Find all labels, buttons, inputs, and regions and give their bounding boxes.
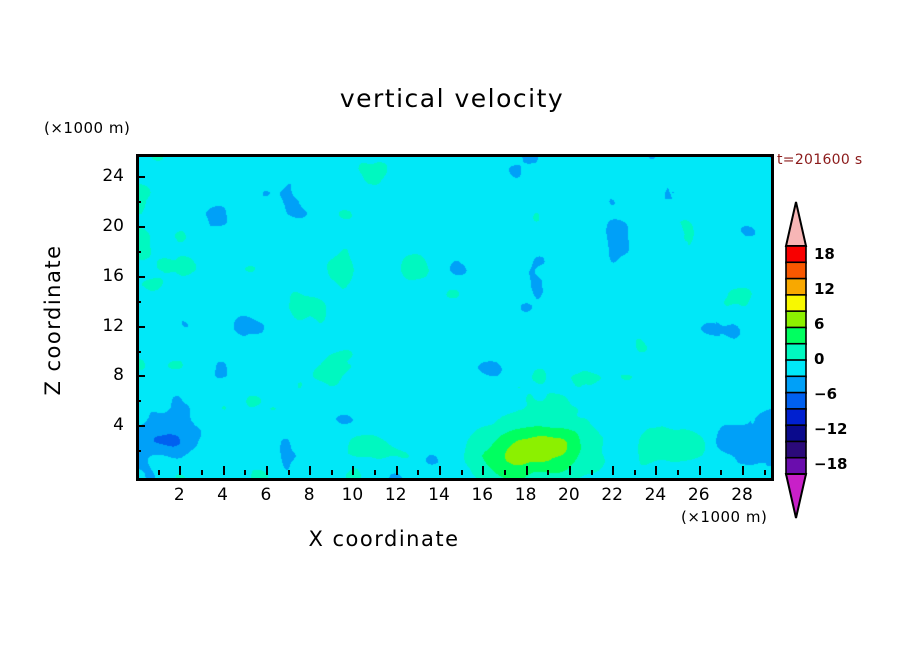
x-axis-unit-label: (×1000 m) xyxy=(681,508,767,526)
x-axis-major-tick xyxy=(655,466,657,475)
x-axis-minor-tick xyxy=(504,470,506,475)
colorbar-tick-label: −6 xyxy=(814,385,837,403)
y-axis-tick-label: 4 xyxy=(84,415,124,435)
y-axis-tick-label: 20 xyxy=(84,216,124,236)
x-axis-tick-label: 24 xyxy=(635,485,675,505)
x-axis-tick-label: 6 xyxy=(246,485,286,505)
colorbar-tick-label: 6 xyxy=(814,315,824,333)
x-axis-minor-tick xyxy=(374,470,376,475)
x-axis-minor-tick xyxy=(244,470,246,475)
y-axis-major-tick xyxy=(136,425,145,427)
x-axis-tick-label: 4 xyxy=(203,485,243,505)
x-axis-minor-tick xyxy=(417,470,419,475)
x-axis-major-tick xyxy=(266,466,268,475)
x-axis-major-tick xyxy=(482,466,484,475)
y-axis-major-tick xyxy=(136,176,145,178)
x-axis-minor-tick xyxy=(158,470,160,475)
y-axis-title: Z coordinate xyxy=(41,220,65,420)
y-axis-major-tick xyxy=(136,226,145,228)
x-axis-major-tick xyxy=(612,466,614,475)
colorbar-tick-label: 12 xyxy=(814,280,835,298)
colorbar-tick-label: −18 xyxy=(814,455,847,473)
x-axis-major-tick xyxy=(569,466,571,475)
colorbar-tick-label: −12 xyxy=(814,420,847,438)
x-axis-major-tick xyxy=(223,466,225,475)
y-axis-tick-label: 8 xyxy=(84,365,124,385)
x-axis-major-tick xyxy=(179,466,181,475)
x-axis-major-tick xyxy=(352,466,354,475)
x-axis-tick-label: 14 xyxy=(419,485,459,505)
x-axis-minor-tick xyxy=(677,470,679,475)
x-axis-tick-label: 8 xyxy=(289,485,329,505)
y-axis-major-tick xyxy=(136,326,145,328)
x-axis-tick-label: 10 xyxy=(332,485,372,505)
y-axis-unit-label: (×1000 m) xyxy=(44,119,130,137)
colorbar-tick-label: 0 xyxy=(814,350,824,368)
x-axis-major-tick xyxy=(309,466,311,475)
y-axis-minor-tick xyxy=(136,450,141,452)
x-axis-tick-label: 28 xyxy=(722,485,762,505)
y-axis-minor-tick xyxy=(136,301,141,303)
x-axis-major-tick xyxy=(396,466,398,475)
x-axis-minor-tick xyxy=(331,470,333,475)
contour-plot-area xyxy=(136,154,774,481)
x-axis-minor-tick xyxy=(547,470,549,475)
y-axis-minor-tick xyxy=(136,251,141,253)
x-axis-minor-tick xyxy=(764,470,766,475)
y-axis-minor-tick xyxy=(136,201,141,203)
x-axis-major-tick xyxy=(526,466,528,475)
x-axis-major-tick xyxy=(699,466,701,475)
x-axis-minor-tick xyxy=(288,470,290,475)
y-axis-tick-label: 24 xyxy=(84,166,124,186)
x-axis-major-tick xyxy=(742,466,744,475)
x-axis-minor-tick xyxy=(201,470,203,475)
page-title: vertical velocity xyxy=(0,84,904,113)
y-axis-minor-tick xyxy=(136,351,141,353)
x-axis-minor-tick xyxy=(634,470,636,475)
x-axis-tick-label: 2 xyxy=(159,485,199,505)
x-axis-minor-tick xyxy=(461,470,463,475)
y-axis-major-tick xyxy=(136,375,145,377)
y-axis-major-tick xyxy=(136,276,145,278)
x-axis-minor-tick xyxy=(720,470,722,475)
y-axis-tick-label: 16 xyxy=(84,266,124,286)
colorbar-tick-label: 18 xyxy=(814,245,835,263)
y-axis-minor-tick xyxy=(136,400,141,402)
x-axis-tick-label: 26 xyxy=(679,485,719,505)
contour-field-canvas xyxy=(139,157,771,478)
x-axis-tick-label: 20 xyxy=(549,485,589,505)
x-axis-tick-label: 12 xyxy=(376,485,416,505)
x-axis-major-tick xyxy=(439,466,441,475)
x-axis-minor-tick xyxy=(591,470,593,475)
colorbar-label-layer: 181260−6−12−18 xyxy=(782,200,902,520)
timestamp-annotation: t=201600 s xyxy=(777,152,862,168)
y-axis-tick-label: 12 xyxy=(84,316,124,336)
x-axis-tick-label: 22 xyxy=(592,485,632,505)
x-axis-tick-label: 16 xyxy=(462,485,502,505)
x-axis-tick-label: 18 xyxy=(506,485,546,505)
x-axis-title: X coordinate xyxy=(0,527,768,551)
